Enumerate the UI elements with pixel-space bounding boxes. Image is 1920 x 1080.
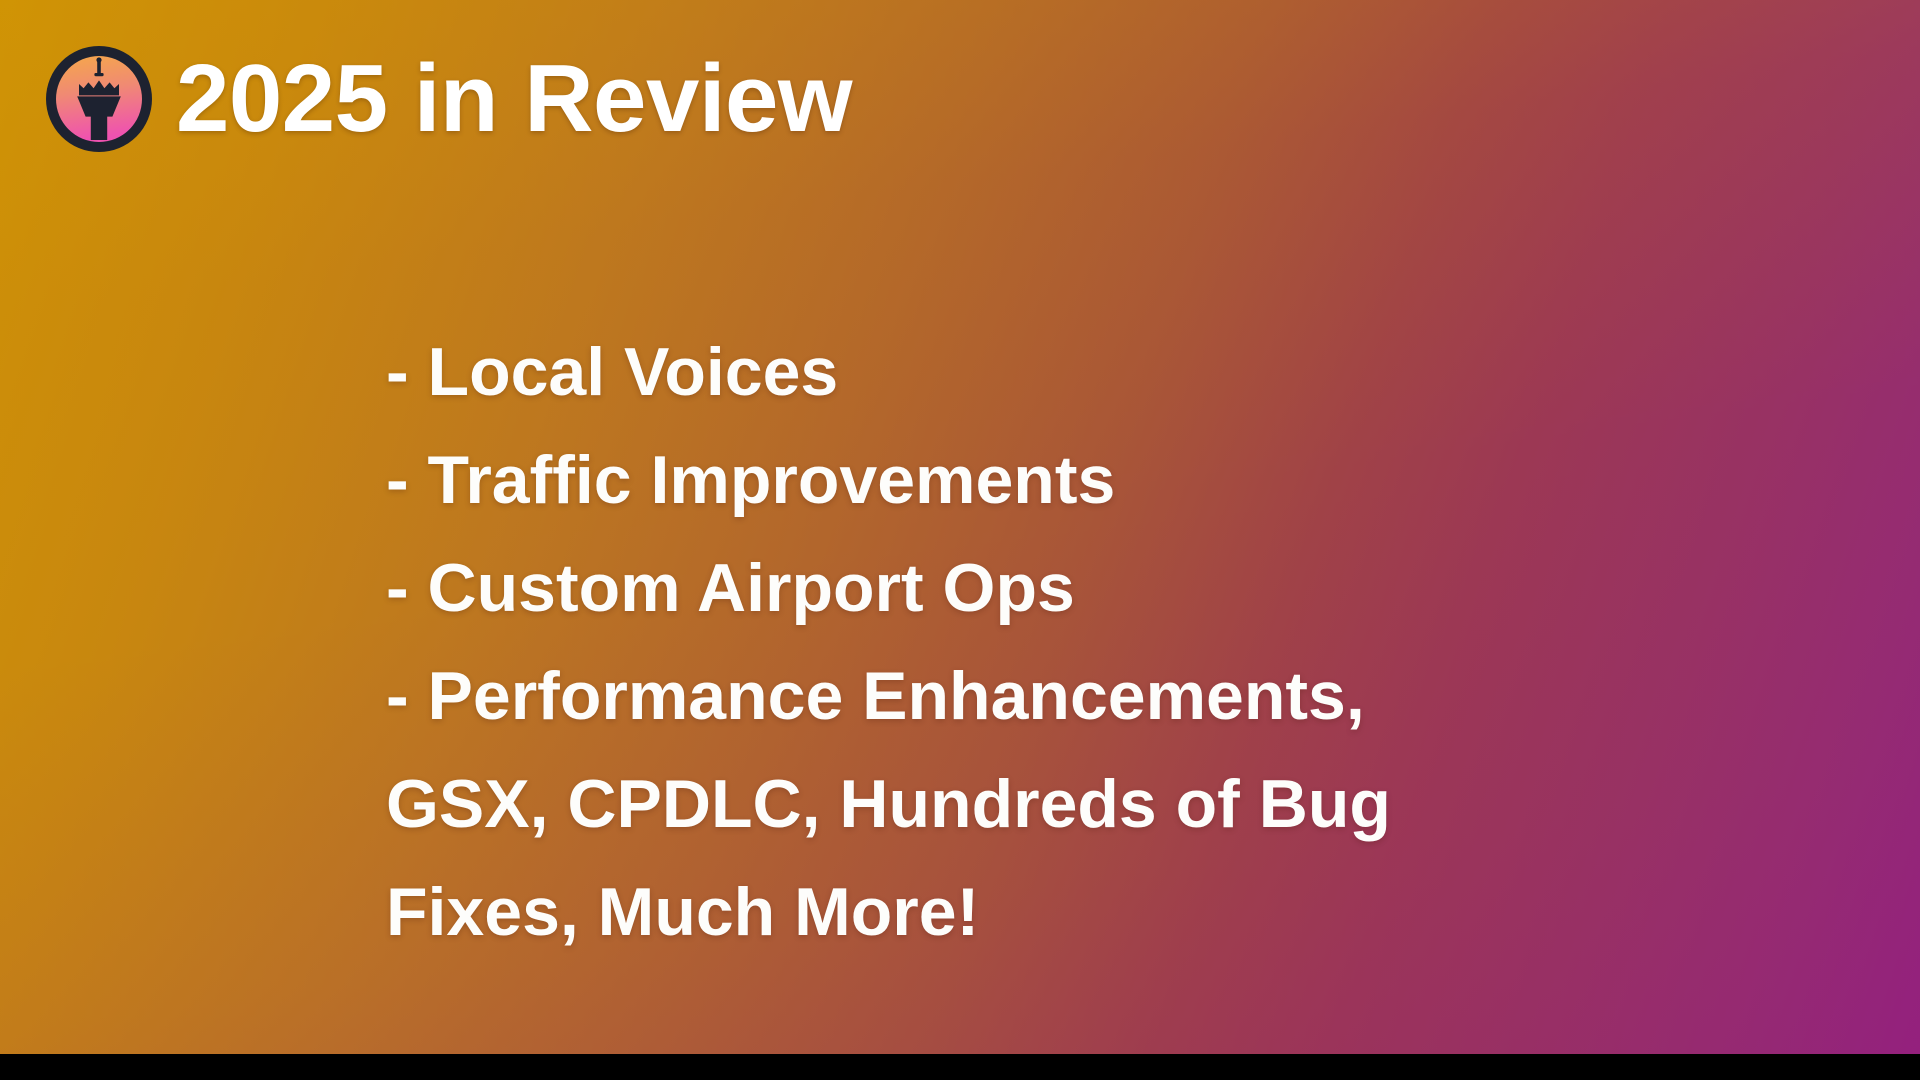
bullet-item-local-voices: - Local Voices — [386, 318, 1536, 426]
control-tower-logo-icon — [44, 44, 154, 154]
page-title: 2025 in Review — [176, 51, 852, 147]
presentation-slide: 2025 in Review - Local Voices - Traffic … — [0, 0, 1920, 1080]
slide-bullet-list: - Local Voices - Traffic Improvements - … — [386, 318, 1536, 966]
bullet-item-custom-airport-ops: - Custom Airport Ops — [386, 534, 1536, 642]
bullet-item-performance-enhancements: - Performance Enhancements, GSX, CPDLC, … — [386, 642, 1536, 966]
bullet-item-traffic-improvements: - Traffic Improvements — [386, 426, 1536, 534]
letterbox-bar-bottom — [0, 1054, 1920, 1080]
slide-header: 2025 in Review — [44, 44, 852, 154]
